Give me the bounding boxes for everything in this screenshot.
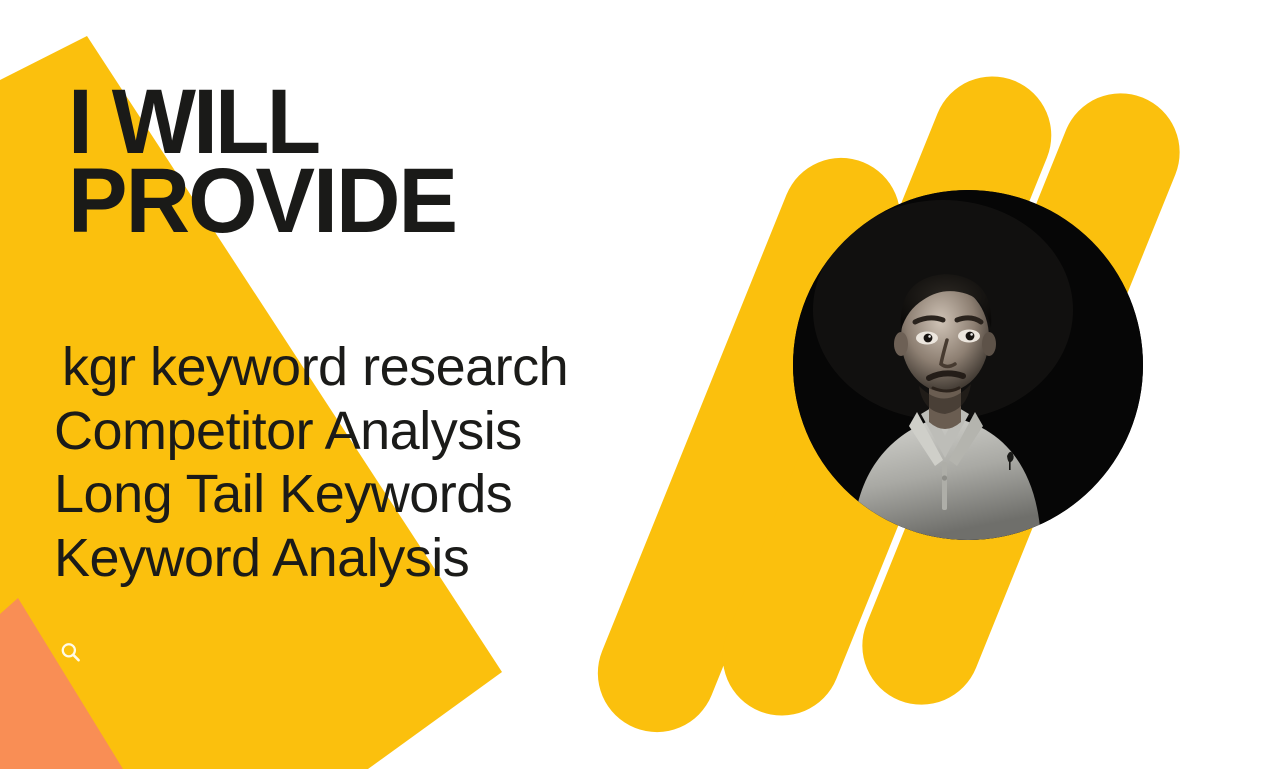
headline-line-2: PROVIDE (68, 163, 456, 240)
service-item-long-tail-keywords: Long Tail Keywords (54, 463, 568, 527)
service-item-competitor-analysis: Competitor Analysis (54, 400, 568, 464)
search-icon[interactable] (58, 640, 88, 670)
service-item-kgr-keyword-research: kgr keyword research (54, 336, 568, 400)
portrait-illustration (793, 190, 1143, 540)
services-list: kgr keyword research Competitor Analysis… (54, 336, 568, 591)
service-item-keyword-analysis: Keyword Analysis (54, 527, 568, 591)
banner-canvas: I WILL PROVIDE kgr keyword research Comp… (0, 0, 1280, 769)
headline: I WILL PROVIDE (68, 84, 468, 241)
search-icon-glyph (58, 640, 84, 666)
avatar (793, 190, 1143, 540)
